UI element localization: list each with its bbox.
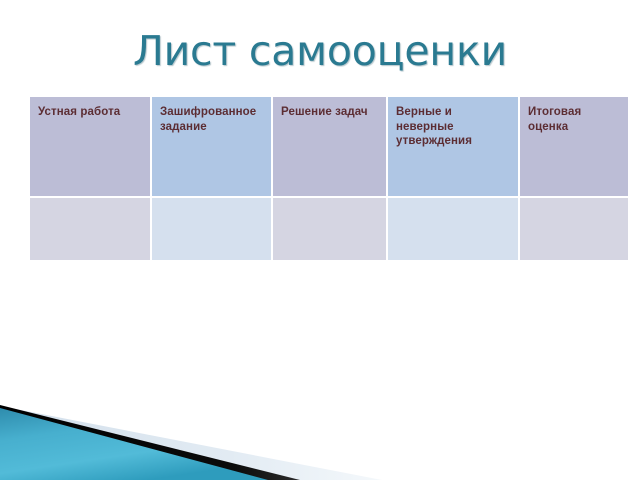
cell-oral-work[interactable] [30, 198, 152, 262]
pale-wedge-shape [0, 406, 382, 480]
black-sliver-shape [0, 405, 300, 480]
cell-true-false[interactable] [388, 198, 520, 262]
column-header-problem-solving: Решение задач [273, 97, 388, 198]
column-header-true-false: Верные и неверные утверждения [388, 97, 520, 198]
self-assessment-table: Устная работа Зашифрованное задание Реше… [30, 97, 628, 262]
cell-encrypted-task[interactable] [152, 198, 273, 262]
column-header-encrypted-task: Зашифрованное задание [152, 97, 273, 198]
slide-canvas: Лист самооценки Устная работа Зашифрован… [0, 0, 640, 480]
teal-wedge-shape [0, 408, 268, 480]
table-header-row: Устная работа Зашифрованное задание Реше… [30, 97, 628, 198]
cell-problem-solving[interactable] [273, 198, 388, 262]
column-header-final-grade: Итоговая оценка [520, 97, 628, 198]
column-header-oral-work: Устная работа [30, 97, 152, 198]
page-title: Лист самооценки [40, 22, 600, 84]
cell-final-grade[interactable] [520, 198, 628, 262]
table-row[interactable] [30, 198, 628, 262]
flow-theme-corner-banner [0, 380, 640, 480]
